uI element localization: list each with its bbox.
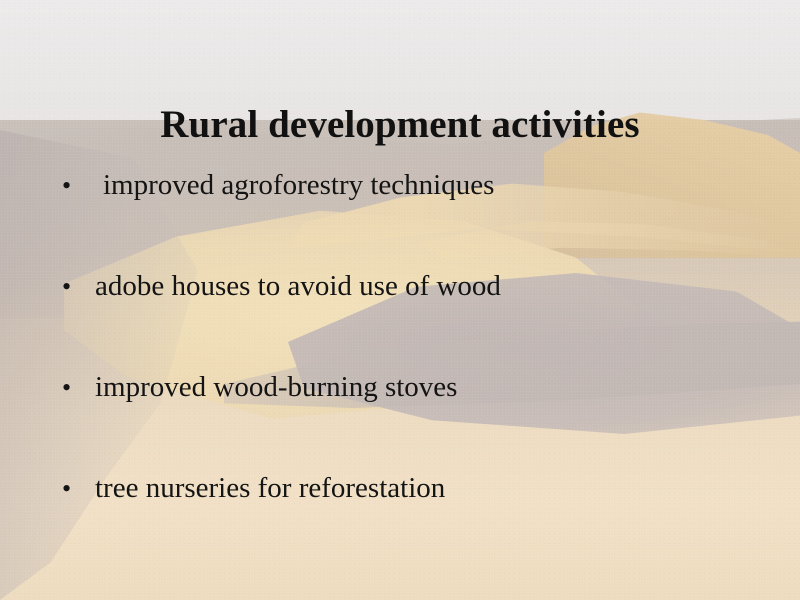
slide-content: Rural development activities • improved … <box>0 0 800 600</box>
bullet-item: • adobe houses to avoid use of wood <box>62 269 501 304</box>
slide-title: Rural development activities <box>0 102 800 148</box>
bullet-item: • tree nurseries for reforestation <box>62 471 445 506</box>
presentation-slide: Rural development activities • improved … <box>0 0 800 600</box>
bullet-point-icon: • <box>62 270 72 304</box>
bullet-item-label: improved agroforestry techniques <box>72 168 494 202</box>
bullet-point-icon: • <box>62 371 72 405</box>
bullet-point-icon: • <box>62 472 72 506</box>
bullet-item-label: adobe houses to avoid use of wood <box>72 269 501 303</box>
bullet-item-label: tree nurseries for reforestation <box>72 471 445 505</box>
bullet-item-label: improved wood-burning stoves <box>72 370 457 404</box>
bullet-point-icon: • <box>62 169 72 203</box>
bullet-item: • improved agroforestry techniques <box>62 168 494 203</box>
bullet-item: • improved wood-burning stoves <box>62 370 457 405</box>
